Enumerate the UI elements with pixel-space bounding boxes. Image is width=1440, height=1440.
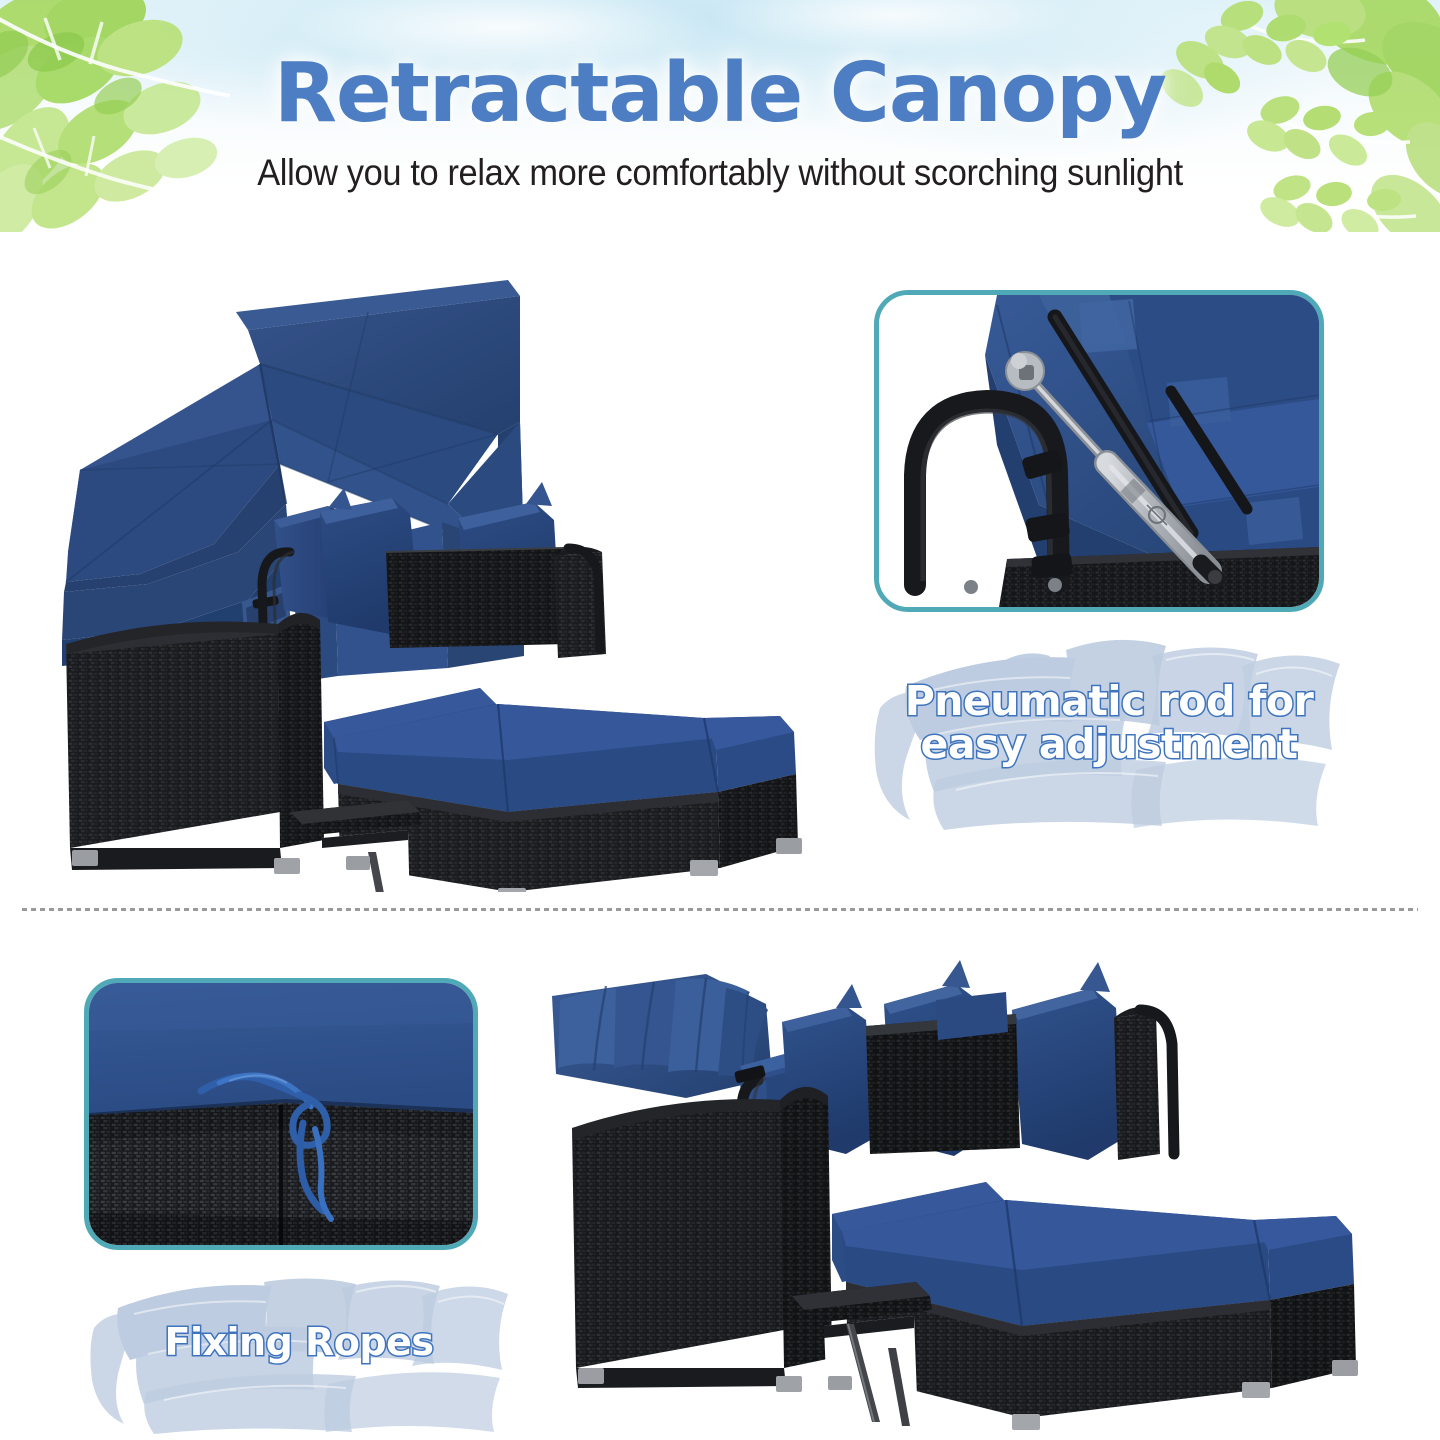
- product-feature-page: Retractable Canopy Allow you to relax mo…: [0, 0, 1440, 1440]
- canopy-daybed-folded-view: [536, 948, 1416, 1440]
- section-divider: [22, 908, 1418, 911]
- caption-line-2: easy adjustment: [866, 723, 1352, 766]
- fixing-ropes-detail-box: [84, 978, 478, 1250]
- caption-line-fixing-ropes: Fixing Ropes: [84, 1322, 514, 1362]
- canopy-daybed-front-view: [28, 252, 838, 892]
- fixing-ropes-illustration: [89, 983, 473, 1245]
- page-subtitle: Allow you to relax more comfortably with…: [50, 152, 1389, 194]
- page-header: Retractable Canopy Allow you to relax mo…: [0, 0, 1440, 232]
- caption-line-1: Pneumatic rod for: [866, 680, 1352, 723]
- pneumatic-rod-illustration: [879, 295, 1319, 607]
- pneumatic-rod-caption: Pneumatic rod for easy adjustment: [866, 630, 1352, 838]
- fixing-ropes-caption: Fixing Ropes: [84, 1274, 514, 1434]
- pneumatic-rod-detail-box: [874, 290, 1324, 612]
- page-title: Retractable Canopy: [0, 46, 1440, 141]
